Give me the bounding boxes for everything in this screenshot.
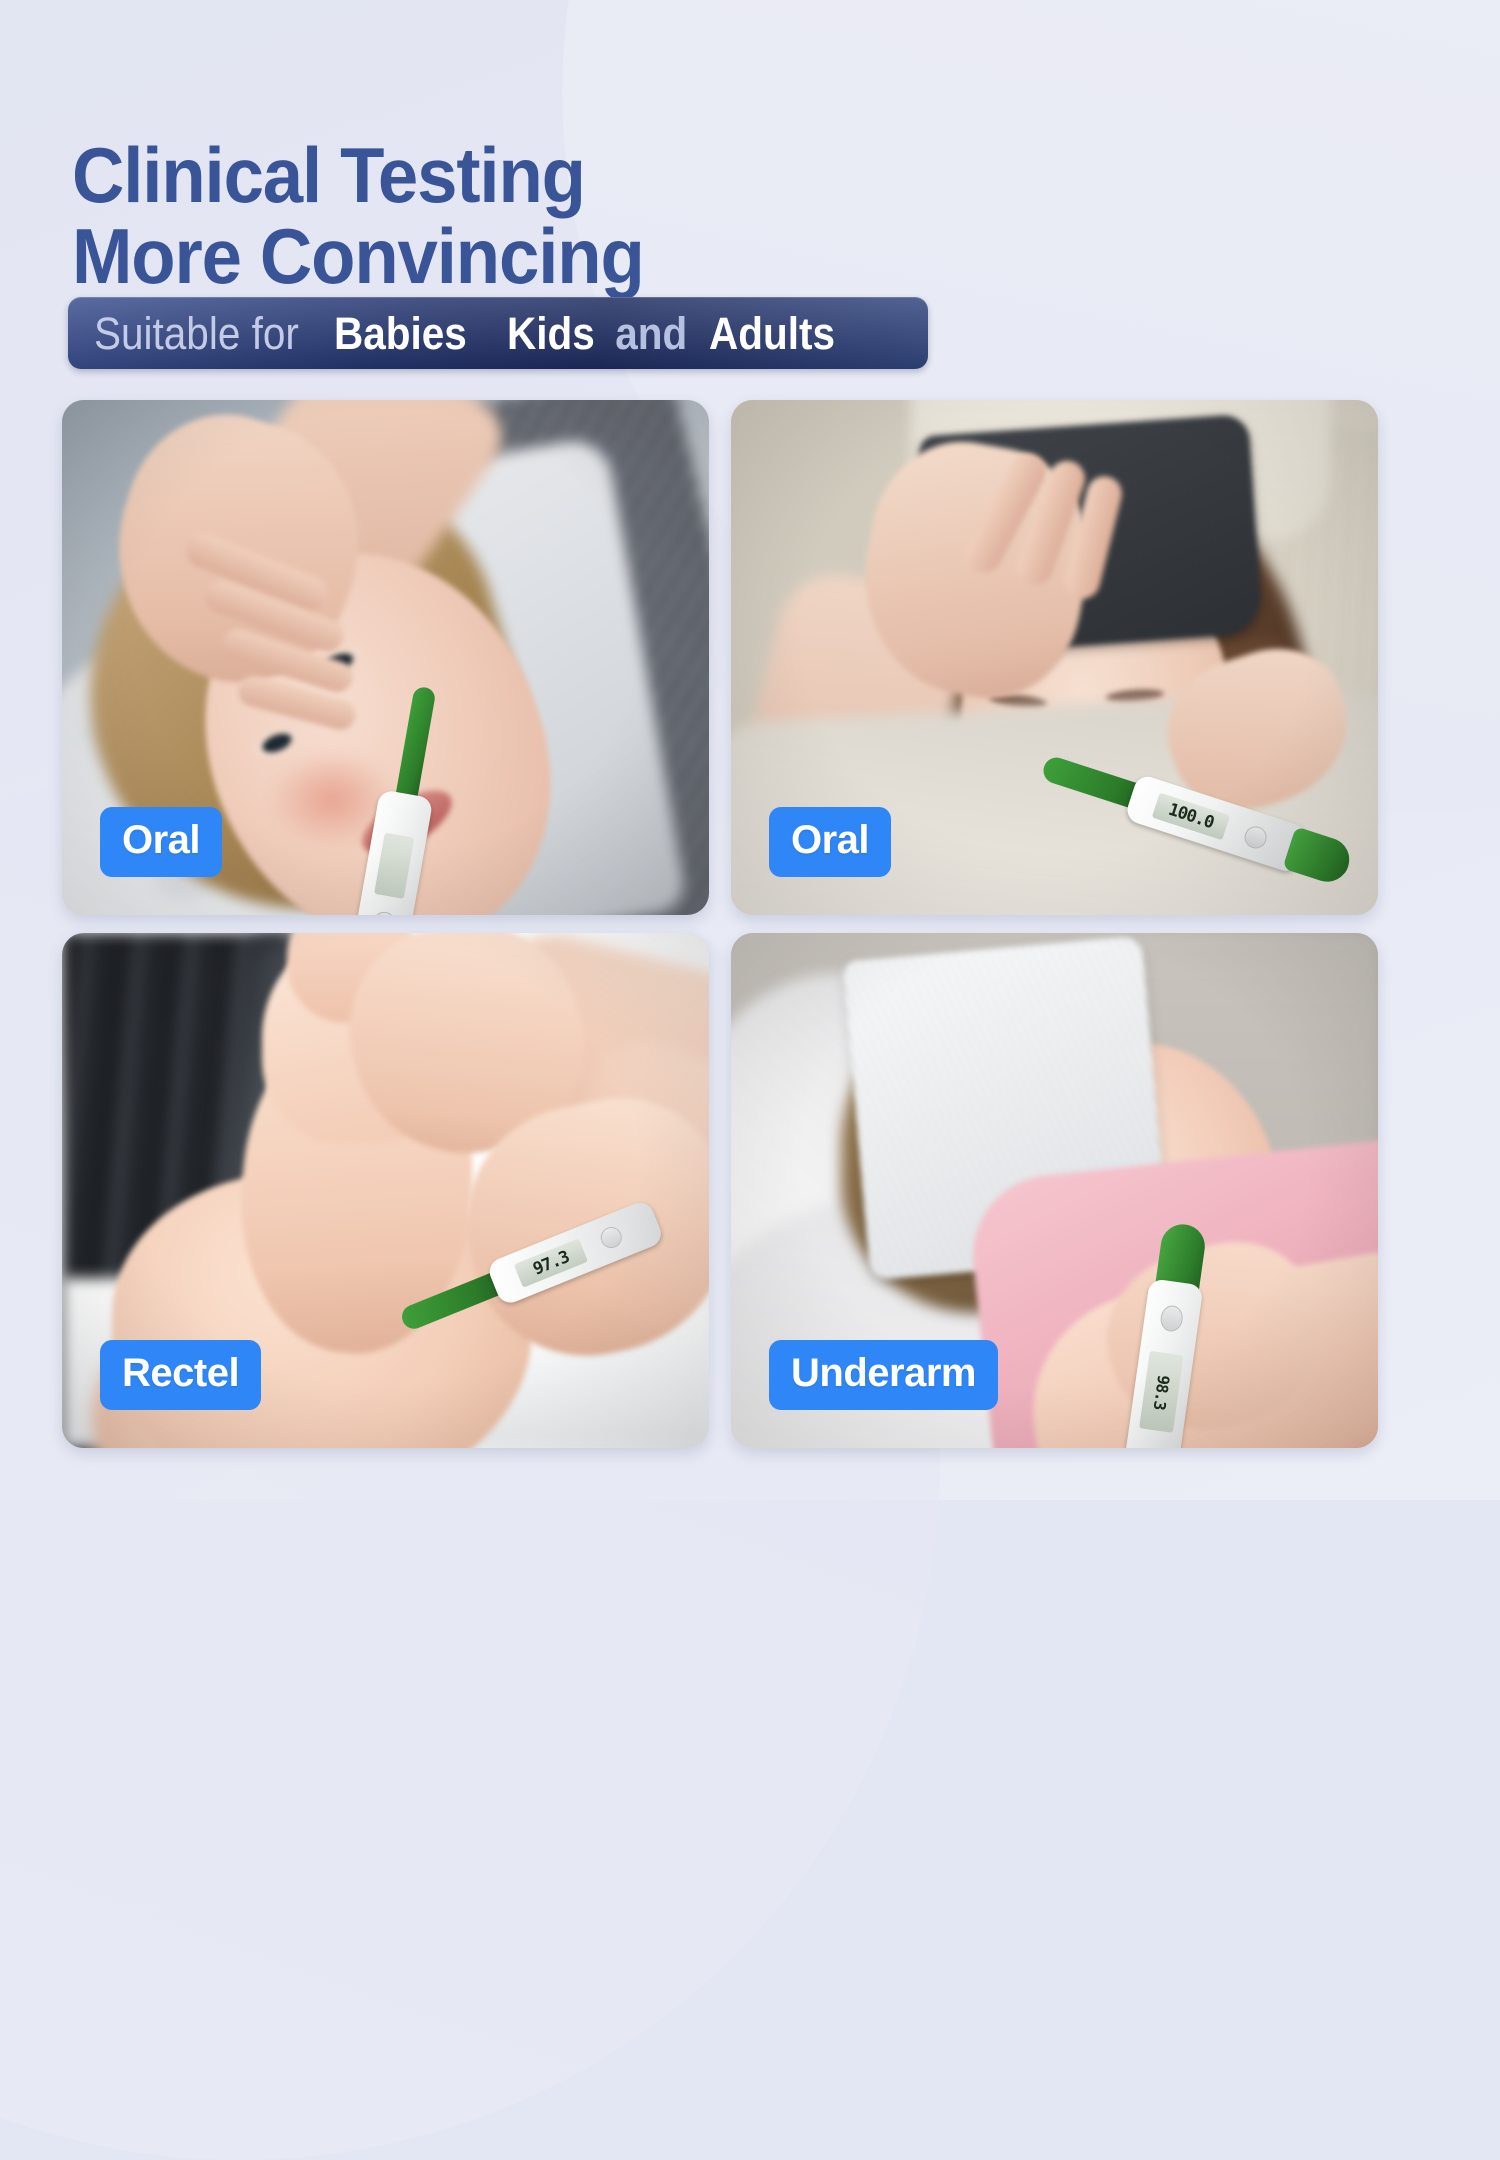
usage-scenario-grid: Oral	[62, 400, 1378, 1448]
badge-underarm-child: Underarm	[769, 1340, 998, 1410]
panel-rectal-baby[interactable]: 97.3 Rectel	[62, 933, 709, 1448]
thermometer-reading: 98.3	[1150, 1373, 1174, 1410]
suitability-banner: Suitable for Babies Kids and Adults	[68, 297, 928, 369]
headline-line-2: More Convincing	[72, 216, 909, 296]
banner-word-babies: Babies	[334, 311, 467, 356]
banner-word-kids: Kids	[507, 311, 595, 356]
badge-oral-child: Oral	[100, 807, 222, 877]
panel-underarm-child[interactable]: 98.3 Underarm	[731, 933, 1378, 1448]
badge-oral-adult: Oral	[769, 807, 891, 877]
badge-rectal-baby: Rectel	[100, 1340, 261, 1410]
banner-conjunction: and	[604, 311, 699, 356]
banner-prefix: Suitable for	[94, 311, 310, 356]
panel-oral-adult[interactable]: 100.0 Oral	[731, 400, 1378, 915]
panel-oral-child[interactable]: Oral	[62, 400, 709, 915]
banner-word-adults: Adults	[709, 311, 835, 356]
headline-line-1: Clinical Testing	[72, 131, 585, 219]
banner-gap	[482, 311, 505, 356]
